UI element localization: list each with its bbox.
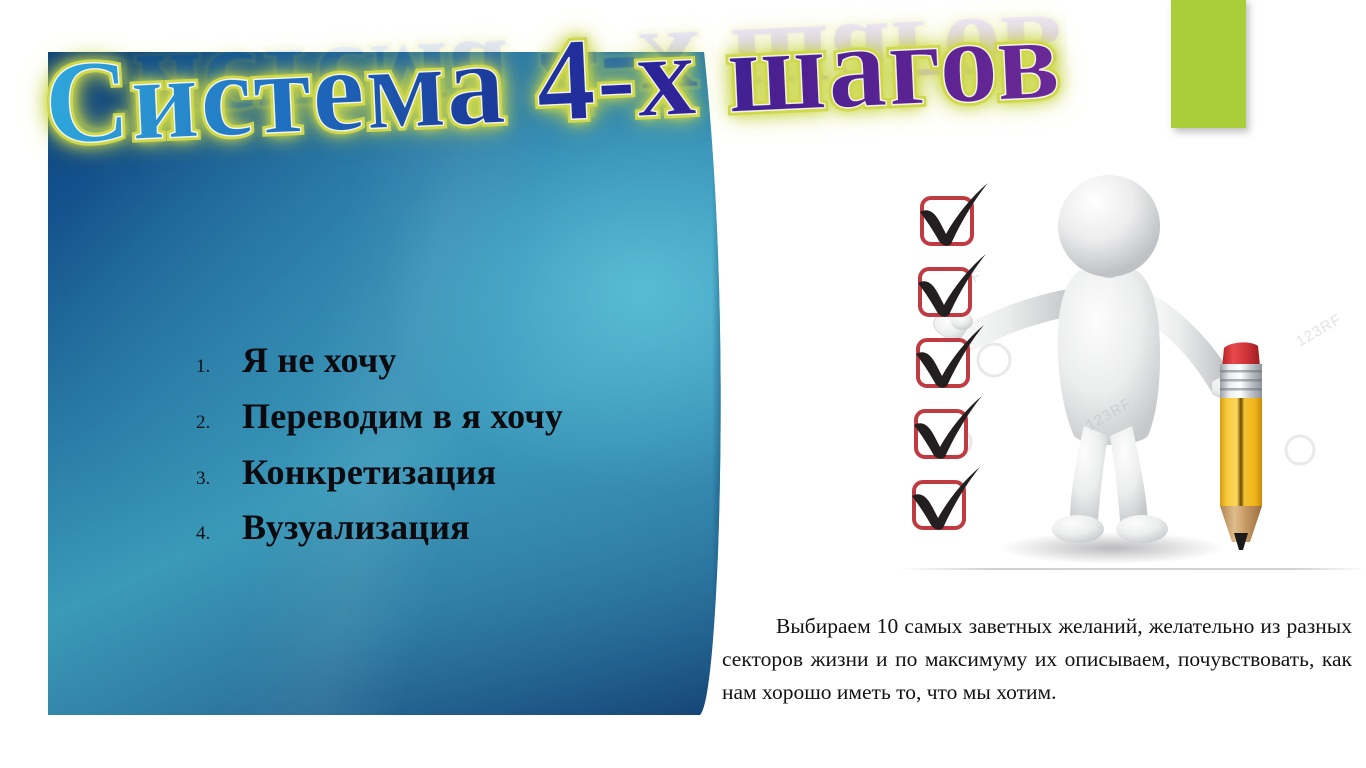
figure-torso (1058, 270, 1160, 445)
figure-head (1058, 175, 1160, 277)
checkbox-checked-4[interactable] (914, 409, 968, 459)
checkmark-icon (910, 320, 988, 390)
step-number: 1. (196, 356, 242, 378)
figure-left-leg (1070, 426, 1108, 522)
checkmark-icon (908, 391, 986, 461)
pencil (1220, 342, 1262, 550)
checkmark-icon (912, 249, 990, 319)
checkbox-checked-1[interactable] (920, 196, 974, 246)
figure-right-leg (1110, 426, 1148, 522)
list-item-step-4: 4. Вузуализация (196, 509, 666, 547)
step-label: Конкретизация (242, 454, 496, 492)
pencil-ferrule-ring-2 (1220, 379, 1262, 382)
checkbox-checked-3[interactable] (916, 338, 970, 388)
figure-right-foot (1116, 515, 1168, 543)
panel-right-edge-shadow (712, 52, 722, 715)
figure-left-foot (1052, 515, 1104, 543)
pencil-ferrule-ring-3 (1220, 388, 1262, 391)
checkmark-icon (914, 178, 992, 248)
checkbox-checked-2[interactable] (918, 267, 972, 317)
list-item-step-3: 3. Конкретизация (196, 454, 666, 492)
checkmark-icon (906, 462, 984, 532)
step-number: 2. (196, 412, 242, 434)
illustration-image: 123RF 123RF 123RF (898, 150, 1366, 570)
green-accent-rectangle (1171, 0, 1246, 128)
step-label: Я не хочу (242, 342, 397, 380)
checkbox-checked-5[interactable] (912, 480, 966, 530)
steps-list: 1. Я не хочу 2. Переводим в я хочу 3. Ко… (196, 342, 666, 565)
figure-ground-shadow (1000, 532, 1224, 564)
image-bottom-edge (898, 568, 1366, 570)
step-number: 4. (196, 523, 242, 545)
step-number: 3. (196, 468, 242, 490)
body-paragraph: Выбираем 10 самых заветных желаний, жела… (722, 610, 1352, 710)
step-label: Вузуализация (242, 509, 470, 547)
step-label: Переводим в я хочу (242, 398, 563, 436)
list-item-step-1: 1. Я не хочу (196, 342, 666, 380)
pencil-ferrule-ring-1 (1220, 370, 1262, 373)
pencil-barrel (1220, 398, 1262, 506)
presentation-slide: Система 4-х шагов Система 4-х шагов Сист… (0, 0, 1366, 768)
list-item-step-2: 2. Переводим в я хочу (196, 398, 666, 436)
